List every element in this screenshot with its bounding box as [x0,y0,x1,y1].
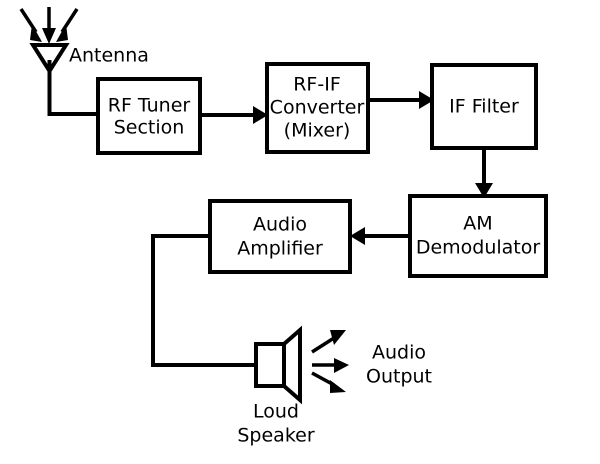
loud-speaker-label-line2: Speaker [237,425,314,447]
block-label-rf-if-converter-line2: Converter [270,97,365,119]
block-label-rf-tuner-line1: RF Tuner [108,95,191,117]
loudspeaker-icon [256,330,300,400]
block-label-rf-tuner-line2: Section [114,117,185,139]
arrow-if-filter-to-am-demodulator [475,148,493,198]
block-label-rf-if-converter-line1: RF-IF [293,74,341,96]
sound-output-arrows-icon [312,330,349,393]
antenna-label: Antenna [69,45,149,67]
audio-output-label-line1: Audio [372,342,426,364]
audio-output-label-line2: Output [366,366,432,388]
am-receiver-block-diagram: RF Tuner Section RF-IF Converter (Mixer)… [0,0,600,464]
loud-speaker-label-line1: Loud [253,401,299,423]
diagram-canvas: RF Tuner Section RF-IF Converter (Mixer)… [0,0,600,464]
block-label-rf-if-converter-line3: (Mixer) [284,120,351,142]
incoming-signal-arrows-icon [21,7,77,44]
block-label-am-demodulator-line1: AM [463,213,492,235]
block-label-audio-amplifier-line1: Audio [253,214,307,236]
block-label-if-filter: IF Filter [449,96,519,118]
arrow-am-demodulator-to-audio-amplifier [350,227,410,245]
block-audio-amplifier [210,201,350,272]
block-label-audio-amplifier-line2: Amplifier [237,238,323,260]
arrow-mixer-to-if-filter [368,91,434,109]
arrow-rf-tuner-to-mixer [200,106,268,124]
block-label-am-demodulator-line2: Demodulator [416,237,541,259]
